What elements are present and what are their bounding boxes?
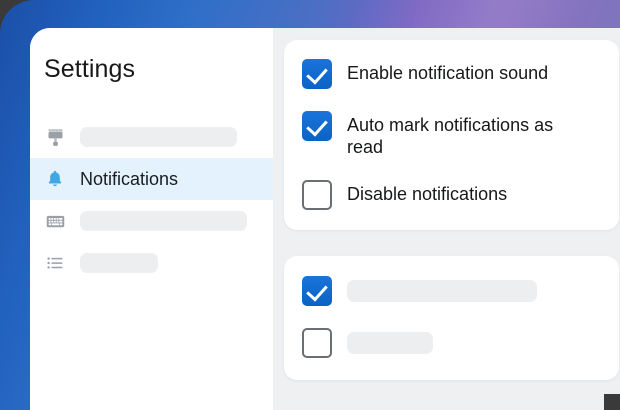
sidebar-item-label-placeholder (80, 127, 237, 147)
checkbox-label-placeholder (347, 280, 537, 302)
bell-icon (44, 168, 66, 190)
checkbox-label: Disable notifications (347, 180, 507, 205)
checkbox-enable-notification-sound[interactable] (302, 59, 332, 89)
checkbox-row[interactable] (284, 328, 619, 358)
checkbox-label: Enable notification sound (347, 59, 548, 84)
settings-window: Settings (30, 28, 620, 410)
page-title: Settings (30, 28, 273, 84)
sidebar-item-label: Notifications (80, 169, 178, 190)
notification-options-card: Enable notification sound Auto mark noti… (284, 40, 619, 230)
checkbox-label-placeholder (347, 332, 433, 354)
sidebar-item-list[interactable] (30, 242, 273, 284)
checkbox-placeholder-checked[interactable] (302, 276, 332, 306)
sidebar-nav: Notifications (30, 116, 273, 284)
sidebar-item-appearance[interactable] (30, 116, 273, 158)
checkbox-label: Auto mark notifications as read (347, 111, 587, 158)
checkbox-row[interactable]: Enable notification sound (284, 59, 619, 89)
checkbox-row[interactable]: Disable notifications (284, 180, 619, 210)
keyboard-icon (44, 210, 66, 232)
corner-notch (604, 394, 620, 410)
checkbox-row[interactable] (284, 276, 619, 306)
screenshot-root: Settings (0, 0, 620, 410)
checkbox-row[interactable]: Auto mark notifications as read (284, 111, 619, 158)
checkbox-auto-mark-notifications-as-read[interactable] (302, 111, 332, 141)
sidebar-item-keyboard[interactable] (30, 200, 273, 242)
checkbox-disable-notifications[interactable] (302, 180, 332, 210)
secondary-options-card (284, 256, 619, 380)
list-icon (44, 252, 66, 274)
sidebar: Settings (30, 28, 273, 410)
checkbox-placeholder-unchecked[interactable] (302, 328, 332, 358)
sidebar-item-notifications[interactable]: Notifications (30, 158, 273, 200)
content-area: Enable notification sound Auto mark noti… (273, 28, 620, 410)
sidebar-item-label-placeholder (80, 253, 158, 273)
paintbrush-icon (44, 126, 66, 148)
sidebar-item-label-placeholder (80, 211, 247, 231)
